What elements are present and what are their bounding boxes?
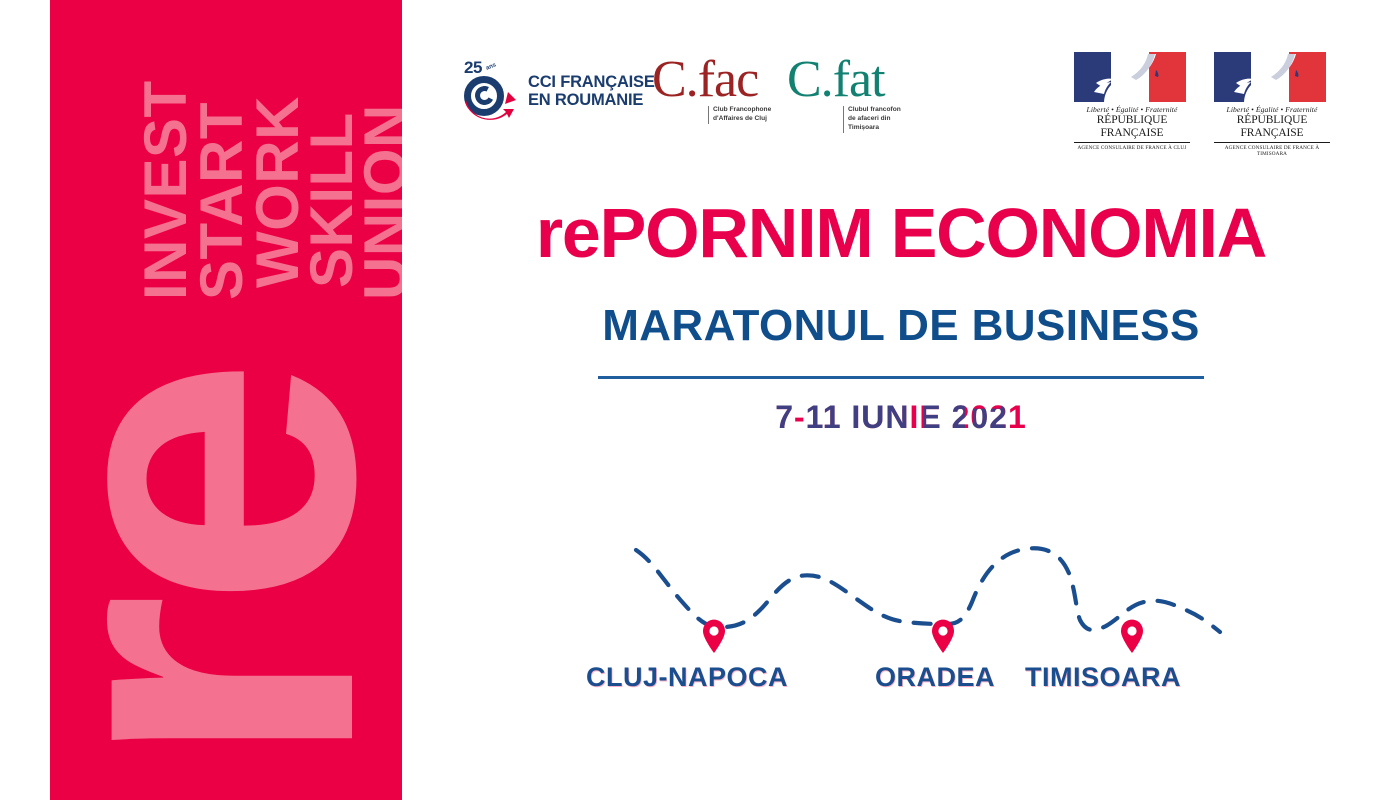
headline-divider <box>598 376 1204 379</box>
map-pin-icon-timisoara[interactable] <box>1119 619 1145 653</box>
french-flag-marianne-icon-2 <box>1214 52 1326 102</box>
keyword-invest: INVEST <box>136 80 196 300</box>
keyword-start: START <box>192 102 252 300</box>
cci-wordmark-line2: EN ROUMANIE <box>528 91 655 109</box>
fr-cluj-agency: AGENCE CONSULAIRE DE FRANCE À CLUJ <box>1074 142 1190 151</box>
event-title: rePORNIM ECONOMIA <box>402 198 1400 268</box>
cfac-mark: C.fac <box>652 54 758 106</box>
cfat-subtitle: Clubul francofon de afaceri din Timișoar… <box>843 106 912 133</box>
cci-anniversary-number: 25 <box>464 58 482 78</box>
cci-arrow-swoosh-icon <box>462 78 518 122</box>
cfat-mark-suffix: fat <box>833 51 885 108</box>
cfat-mark-prefix: C. <box>787 51 833 108</box>
city-label-row: CLUJ-NAPOCA ORADEA TIMISOARA <box>402 664 1400 704</box>
event-subtitle: MARATONUL DE BUSINESS <box>402 304 1400 348</box>
logo-cci-francaise-en-roumanie: 25 ans CCI FRANÇAISE EN ROUMANIE <box>460 60 655 122</box>
marianne-profile-icon <box>1074 52 1186 102</box>
cfat-mark: C.fat <box>787 54 885 106</box>
cci-wordmark: CCI FRANÇAISE EN ROUMANIE <box>528 73 655 110</box>
sponsor-logo-row: 25 ans CCI FRANÇAISE EN ROUMANIE C.fac C… <box>402 52 1400 148</box>
logo-cfac: C.fac Club Francophone d'Affaires de Clu… <box>652 58 777 130</box>
cfat-subtitle-line2: de afaceri din Timișoara <box>848 115 912 133</box>
headline-block: rePORNIM ECONOMIA MARATONUL DE BUSINESS … <box>402 198 1400 433</box>
cfac-subtitle-line2: d'Affaires de Cluj <box>713 115 771 124</box>
keyword-stack: INVEST START WORK SKILL UNION <box>50 0 402 800</box>
logo-cfat: C.fat Clubul francofon de afaceri din Ti… <box>787 58 912 130</box>
event-date: 7-11 IUNIE 2021 7-11 IUNIE 2021 <box>402 401 1400 433</box>
city-label-timisoara: TIMISOARA <box>1025 664 1181 691</box>
cfat-subtitle-line1: Clubul francofon <box>848 106 912 115</box>
keyword-union: UNION <box>356 104 402 300</box>
logo-republique-francaise-timisoara: Liberté • Égalité • Fraternité RÉPUBLIQU… <box>1214 52 1330 142</box>
fr-cluj-republic: RÉPUBLIQUE FRANÇAISE <box>1074 114 1190 140</box>
event-date-text: 7-11 IUNIE 2021 <box>775 399 1027 435</box>
city-label-oradea: ORADEA <box>875 664 995 691</box>
fr-timisoara-republic: RÉPUBLIQUE FRANÇAISE <box>1214 114 1330 140</box>
fr-timisoara-devise: Liberté • Égalité • Fraternité <box>1214 105 1330 114</box>
logo-republique-francaise-cluj: Liberté • Égalité • Fraternité RÉPUBLIQU… <box>1074 52 1190 142</box>
cfac-mark-prefix: C. <box>652 51 698 108</box>
map-pin-icon-cluj-napoca[interactable] <box>701 619 727 653</box>
cci-anniversary-unit: ans <box>485 62 497 71</box>
cfac-mark-suffix: fac <box>698 51 758 108</box>
fr-cluj-devise: Liberté • Égalité • Fraternité <box>1074 105 1190 114</box>
left-brand-panel: re INVEST START WORK SKILL UNION <box>50 0 402 800</box>
french-flag-marianne-icon <box>1074 52 1186 102</box>
cfac-subtitle-line1: Club Francophone <box>713 106 771 115</box>
marianne-profile-icon-2 <box>1214 52 1326 102</box>
city-label-cluj-napoca: CLUJ-NAPOCA <box>586 664 788 691</box>
cfac-subtitle: Club Francophone d'Affaires de Cluj <box>708 106 771 124</box>
fr-timisoara-agency: AGENCE CONSULAIRE DE FRANCE À TIMISOARA <box>1214 142 1330 157</box>
map-pin-icon-oradea[interactable] <box>930 619 956 653</box>
poster-canvas: re INVEST START WORK SKILL UNION 25 ans <box>0 0 1400 800</box>
cci-emblem-icon: 25 ans <box>460 60 522 122</box>
cci-wordmark-line1: CCI FRANÇAISE <box>528 73 655 91</box>
